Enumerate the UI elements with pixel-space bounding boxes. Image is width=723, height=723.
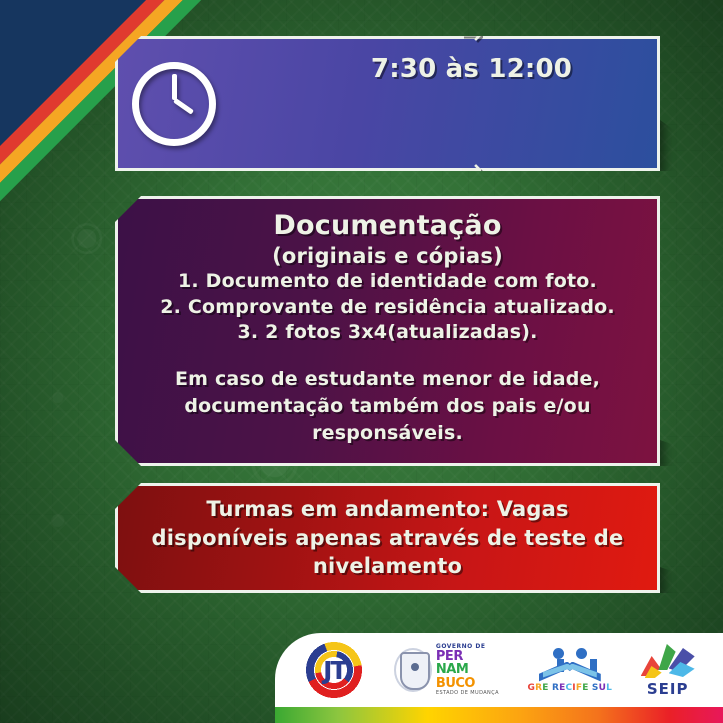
notice-banner: Turmas em andamento: Vagas disponíveis a… xyxy=(115,483,660,593)
seip-petals-icon xyxy=(641,642,695,678)
gre-recife-sul-logo: GRE RECIFE SUL xyxy=(528,648,613,693)
clock-hour-hand xyxy=(173,97,194,114)
notice-line-3: nivelamento xyxy=(285,552,490,581)
student-head-left-icon xyxy=(553,648,564,659)
seip-logo: SEIP xyxy=(641,642,695,698)
documentation-note-line-2: documentação também dos pais e/ou xyxy=(184,393,590,420)
documentation-subtitle: (originais e cópias) xyxy=(272,243,503,269)
schedule-banner: Atendimento presencial → 7:30 às 12:00 →… xyxy=(115,36,660,171)
gre-recife-sul-label: GRE RECIFE SUL xyxy=(528,683,613,693)
documentation-title: Documentação xyxy=(273,209,501,243)
pernambuco-buco: BUCO xyxy=(436,677,499,690)
clock-icon xyxy=(118,62,230,146)
jt-logo: JT xyxy=(303,641,365,699)
documentation-item-1: 1. Documento de identidade com foto. xyxy=(178,269,597,295)
documentation-note-line-1: Em caso de estudante menor de idade, xyxy=(175,366,600,393)
notice-line-1: Turmas em andamento: Vagas xyxy=(178,495,596,524)
documentation-note-line-3: responsáveis. xyxy=(312,420,463,447)
governo-pernambuco-logo: GOVERNO DE PER NAM BUCO ESTADO DE MUDANÇ… xyxy=(394,644,499,696)
pernambuco-nam: NAM xyxy=(436,663,499,676)
clock-minute-hand xyxy=(172,74,177,100)
students-book-icon xyxy=(539,648,601,682)
pernambuco-estado-label: ESTADO DE MUDANÇA xyxy=(436,691,499,696)
footer-logo-bar: JT GOVERNO DE PER NAM BUCO ESTADO DE MUD… xyxy=(275,633,723,707)
notice-line-2: disponíveis apenas através de teste de xyxy=(124,524,652,553)
schedule-row-1-text: 7:30 às 12:00 xyxy=(371,54,572,84)
poster-canvas: Atendimento presencial → 7:30 às 12:00 →… xyxy=(0,0,723,723)
pernambuco-wordmark: GOVERNO DE PER NAM BUCO ESTADO DE MUDANÇ… xyxy=(436,644,499,696)
documentation-banner: Documentação (originais e cópias) 1. Doc… xyxy=(115,196,660,466)
documentation-item-2: 2. Comprovante de residência atualizado. xyxy=(160,295,615,321)
pernambuco-per: PER xyxy=(436,650,499,663)
jt-monogram: JT xyxy=(303,641,365,699)
seip-label: SEIP xyxy=(647,680,689,698)
student-head-right-icon xyxy=(576,648,587,659)
footer-gradient-bar xyxy=(275,707,723,723)
pernambuco-coat-of-arms-icon xyxy=(394,648,432,692)
documentation-item-3: 3. 2 fotos 3x4(atualizadas). xyxy=(237,320,537,346)
